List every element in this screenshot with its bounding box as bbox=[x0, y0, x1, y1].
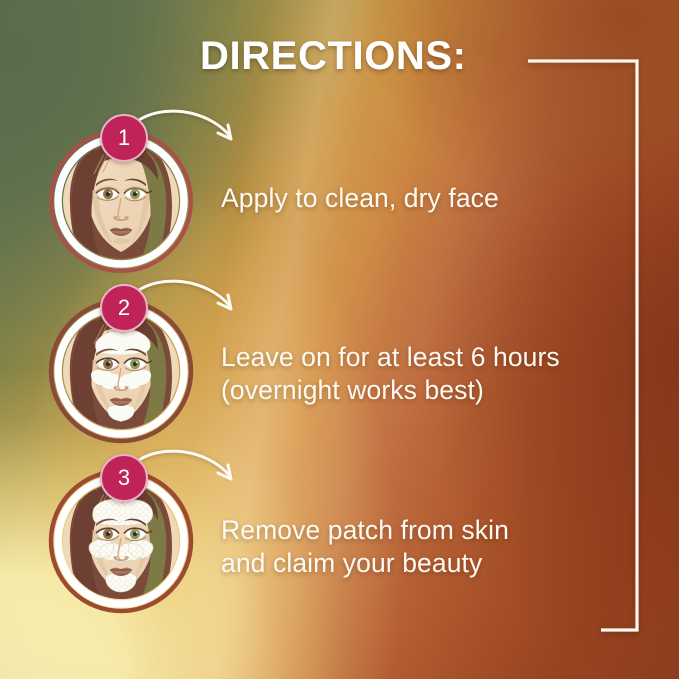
page-title: DIRECTIONS: bbox=[200, 34, 467, 79]
step-2-text: Leave on for at least 6 hours (overnight… bbox=[221, 341, 651, 407]
directions-infographic: DIRECTIONS: bbox=[0, 0, 679, 679]
step-1-badge: 1 bbox=[100, 114, 148, 162]
step-3-badge: 3 bbox=[100, 454, 148, 502]
step-3-portrait: 3 bbox=[48, 468, 194, 614]
step-3-number: 3 bbox=[118, 465, 130, 491]
step-1-number: 1 bbox=[118, 125, 130, 151]
step-2-portrait: 2 bbox=[48, 298, 194, 444]
step-1-portrait: 1 bbox=[48, 128, 194, 274]
step-3-text: Remove patch from skin and claim your be… bbox=[221, 514, 651, 580]
step-2-badge: 2 bbox=[100, 284, 148, 332]
step-1-text: Apply to clean, dry face bbox=[221, 182, 641, 215]
step-2-number: 2 bbox=[118, 295, 130, 321]
